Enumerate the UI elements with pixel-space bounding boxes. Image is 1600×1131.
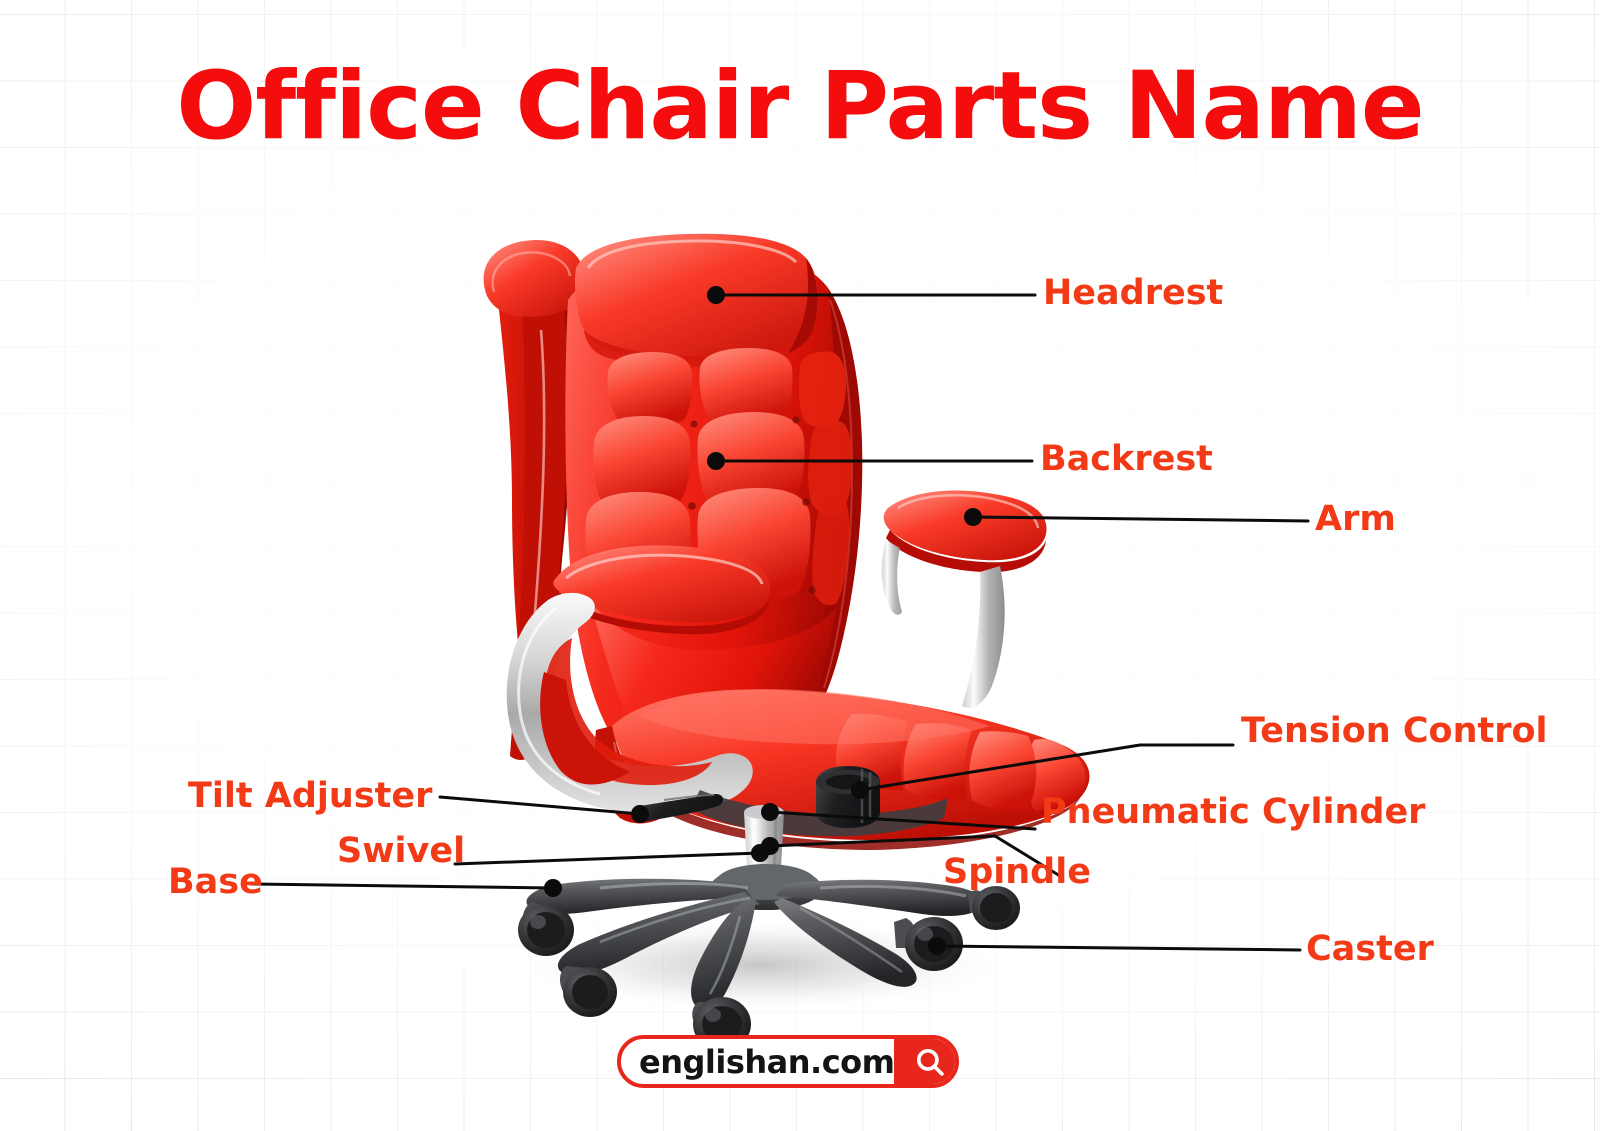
site-badge[interactable]: englishan.com [617,1035,959,1088]
label-tilt-adjuster: Tilt Adjuster [188,779,432,814]
label-headrest: Headrest [1043,276,1223,311]
label-caster: Caster [1306,932,1434,967]
site-name-text: englishan.com [621,1043,894,1081]
search-icon[interactable] [894,1039,959,1084]
page-title: Office Chair Parts Name [0,58,1600,157]
label-base: Base [168,865,263,900]
label-arm: Arm [1315,502,1396,537]
label-tension-control: Tension Control [1241,714,1548,749]
label-pneumatic-cylinder: Pneumatic Cylinder [1041,795,1425,830]
label-spindle: Spindle [943,855,1091,890]
label-backrest: Backrest [1040,442,1213,477]
label-swivel: Swivel [337,834,465,869]
